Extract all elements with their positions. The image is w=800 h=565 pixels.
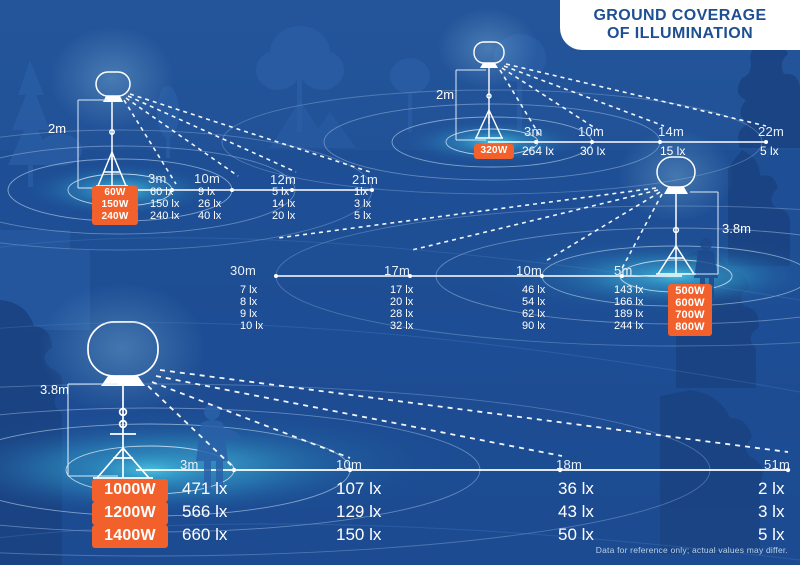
lux-a-r1c4: 1lx <box>354 187 368 198</box>
distance-c-1: 30m <box>230 264 256 277</box>
lux-d-r3c4: 5 lx <box>758 526 784 543</box>
distance-b-2: 10m <box>578 125 604 138</box>
lux-c-r3c3: 62 lx <box>522 309 545 320</box>
wattage-badge-c-4[interactable]: 800W <box>668 320 712 336</box>
distance-a-2: 10m <box>194 172 220 185</box>
disclaimer-text: Data for reference only; actual values m… <box>596 545 788 555</box>
distance-d-3: 18m <box>556 458 582 471</box>
lux-c-r3c1: 9 lx <box>240 309 257 320</box>
lux-c-r2c1: 8 lx <box>240 297 257 308</box>
wattage-badge-a-3[interactable]: 240W <box>92 210 138 225</box>
wattage-badge-d-2[interactable]: 1200W <box>92 502 168 525</box>
lux-c-r3c4: 189 lx <box>614 309 643 320</box>
lux-a-r1c3: 5 lx <box>272 187 289 198</box>
distance-a-3: 12m <box>270 173 296 186</box>
lux-b-r1c3: 15 lx <box>660 145 685 157</box>
distance-b-3: 14m <box>658 125 684 138</box>
lux-d-r1c3: 36 lx <box>558 480 594 497</box>
title-line-2: OF ILLUMINATION <box>607 25 753 42</box>
wattage-badge-d-1[interactable]: 1000W <box>92 479 168 502</box>
title-card: GROUND COVERAGE OF ILLUMINATION <box>560 0 800 50</box>
lux-c-r1c3: 46 lx <box>522 285 545 296</box>
lux-c-r4c3: 90 lx <box>522 321 545 332</box>
mast-height-a: 2m <box>48 122 66 135</box>
lux-b-r1c1: 264 lx <box>522 145 554 157</box>
distance-b-1: 3m <box>524 125 543 138</box>
lux-d-r2c1: 566 lx <box>182 503 227 520</box>
lux-a-r3c2: 40 lx <box>198 211 221 222</box>
lux-d-r3c3: 50 lx <box>558 526 594 543</box>
lux-d-r3c2: 150 lx <box>336 526 381 543</box>
lux-c-r1c1: 7 lx <box>240 285 257 296</box>
mast-height-d: 3.8m <box>40 383 69 396</box>
distance-d-1: 3m <box>180 458 199 471</box>
mast-height-b: 2m <box>436 88 454 101</box>
lux-d-r1c2: 107 lx <box>336 480 381 497</box>
lux-d-r2c2: 129 lx <box>336 503 381 520</box>
lux-b-r1c4: 5 lx <box>760 145 779 157</box>
distance-c-2: 17m <box>384 264 410 277</box>
distance-c-4: 5m <box>614 264 633 277</box>
distance-a-1: 3m <box>148 172 167 185</box>
distance-c-3: 10m <box>516 264 542 277</box>
infographic-canvas: GROUND COVERAGE OF ILLUMINATION 2m 3m 10… <box>0 0 800 565</box>
lux-a-r1c1: 60 lx <box>150 187 173 198</box>
distance-a-4: 21m <box>352 173 378 186</box>
lux-a-r2c4: 3 lx <box>354 199 371 210</box>
lux-a-r1c2: 9 lx <box>198 187 215 198</box>
distance-b-4: 22m <box>758 125 784 138</box>
lux-d-r2c3: 43 lx <box>558 503 594 520</box>
lux-c-r2c3: 54 lx <box>522 297 545 308</box>
distance-d-4: 51m <box>764 458 790 471</box>
lux-b-r1c2: 30 lx <box>580 145 605 157</box>
lux-a-r3c4: 5 lx <box>354 211 371 222</box>
mast-height-c: 3.8m <box>722 222 751 235</box>
lux-a-r3c3: 20 lx <box>272 211 295 222</box>
lux-c-r1c4: 143 lx <box>614 285 643 296</box>
wattage-badge-b-1[interactable]: 320W <box>474 144 514 159</box>
lux-d-r1c1: 471 lx <box>182 480 227 497</box>
lux-c-r3c2: 28 lx <box>390 309 413 320</box>
lux-d-r2c4: 3 lx <box>758 503 784 520</box>
lux-c-r2c2: 20 lx <box>390 297 413 308</box>
distance-d-2: 10m <box>336 458 362 471</box>
lux-a-r3c1: 240 lx <box>150 211 179 222</box>
lux-d-r1c4: 2 lx <box>758 480 784 497</box>
lux-c-r2c4: 166 lx <box>614 297 643 308</box>
wattage-badge-d-3[interactable]: 1400W <box>92 525 168 548</box>
lux-c-r4c2: 32 lx <box>390 321 413 332</box>
page-title: GROUND COVERAGE OF ILLUMINATION <box>593 7 766 44</box>
lux-c-r1c2: 17 lx <box>390 285 413 296</box>
lux-a-r2c2: 26 lx <box>198 199 221 210</box>
lux-a-r2c1: 150 lx <box>150 199 179 210</box>
lux-d-r3c1: 660 lx <box>182 526 227 543</box>
lux-c-r4c4: 244 lx <box>614 321 643 332</box>
lux-c-r4c1: 10 lx <box>240 321 263 332</box>
lux-a-r2c3: 14 lx <box>272 199 295 210</box>
title-line-1: GROUND COVERAGE <box>593 7 766 24</box>
